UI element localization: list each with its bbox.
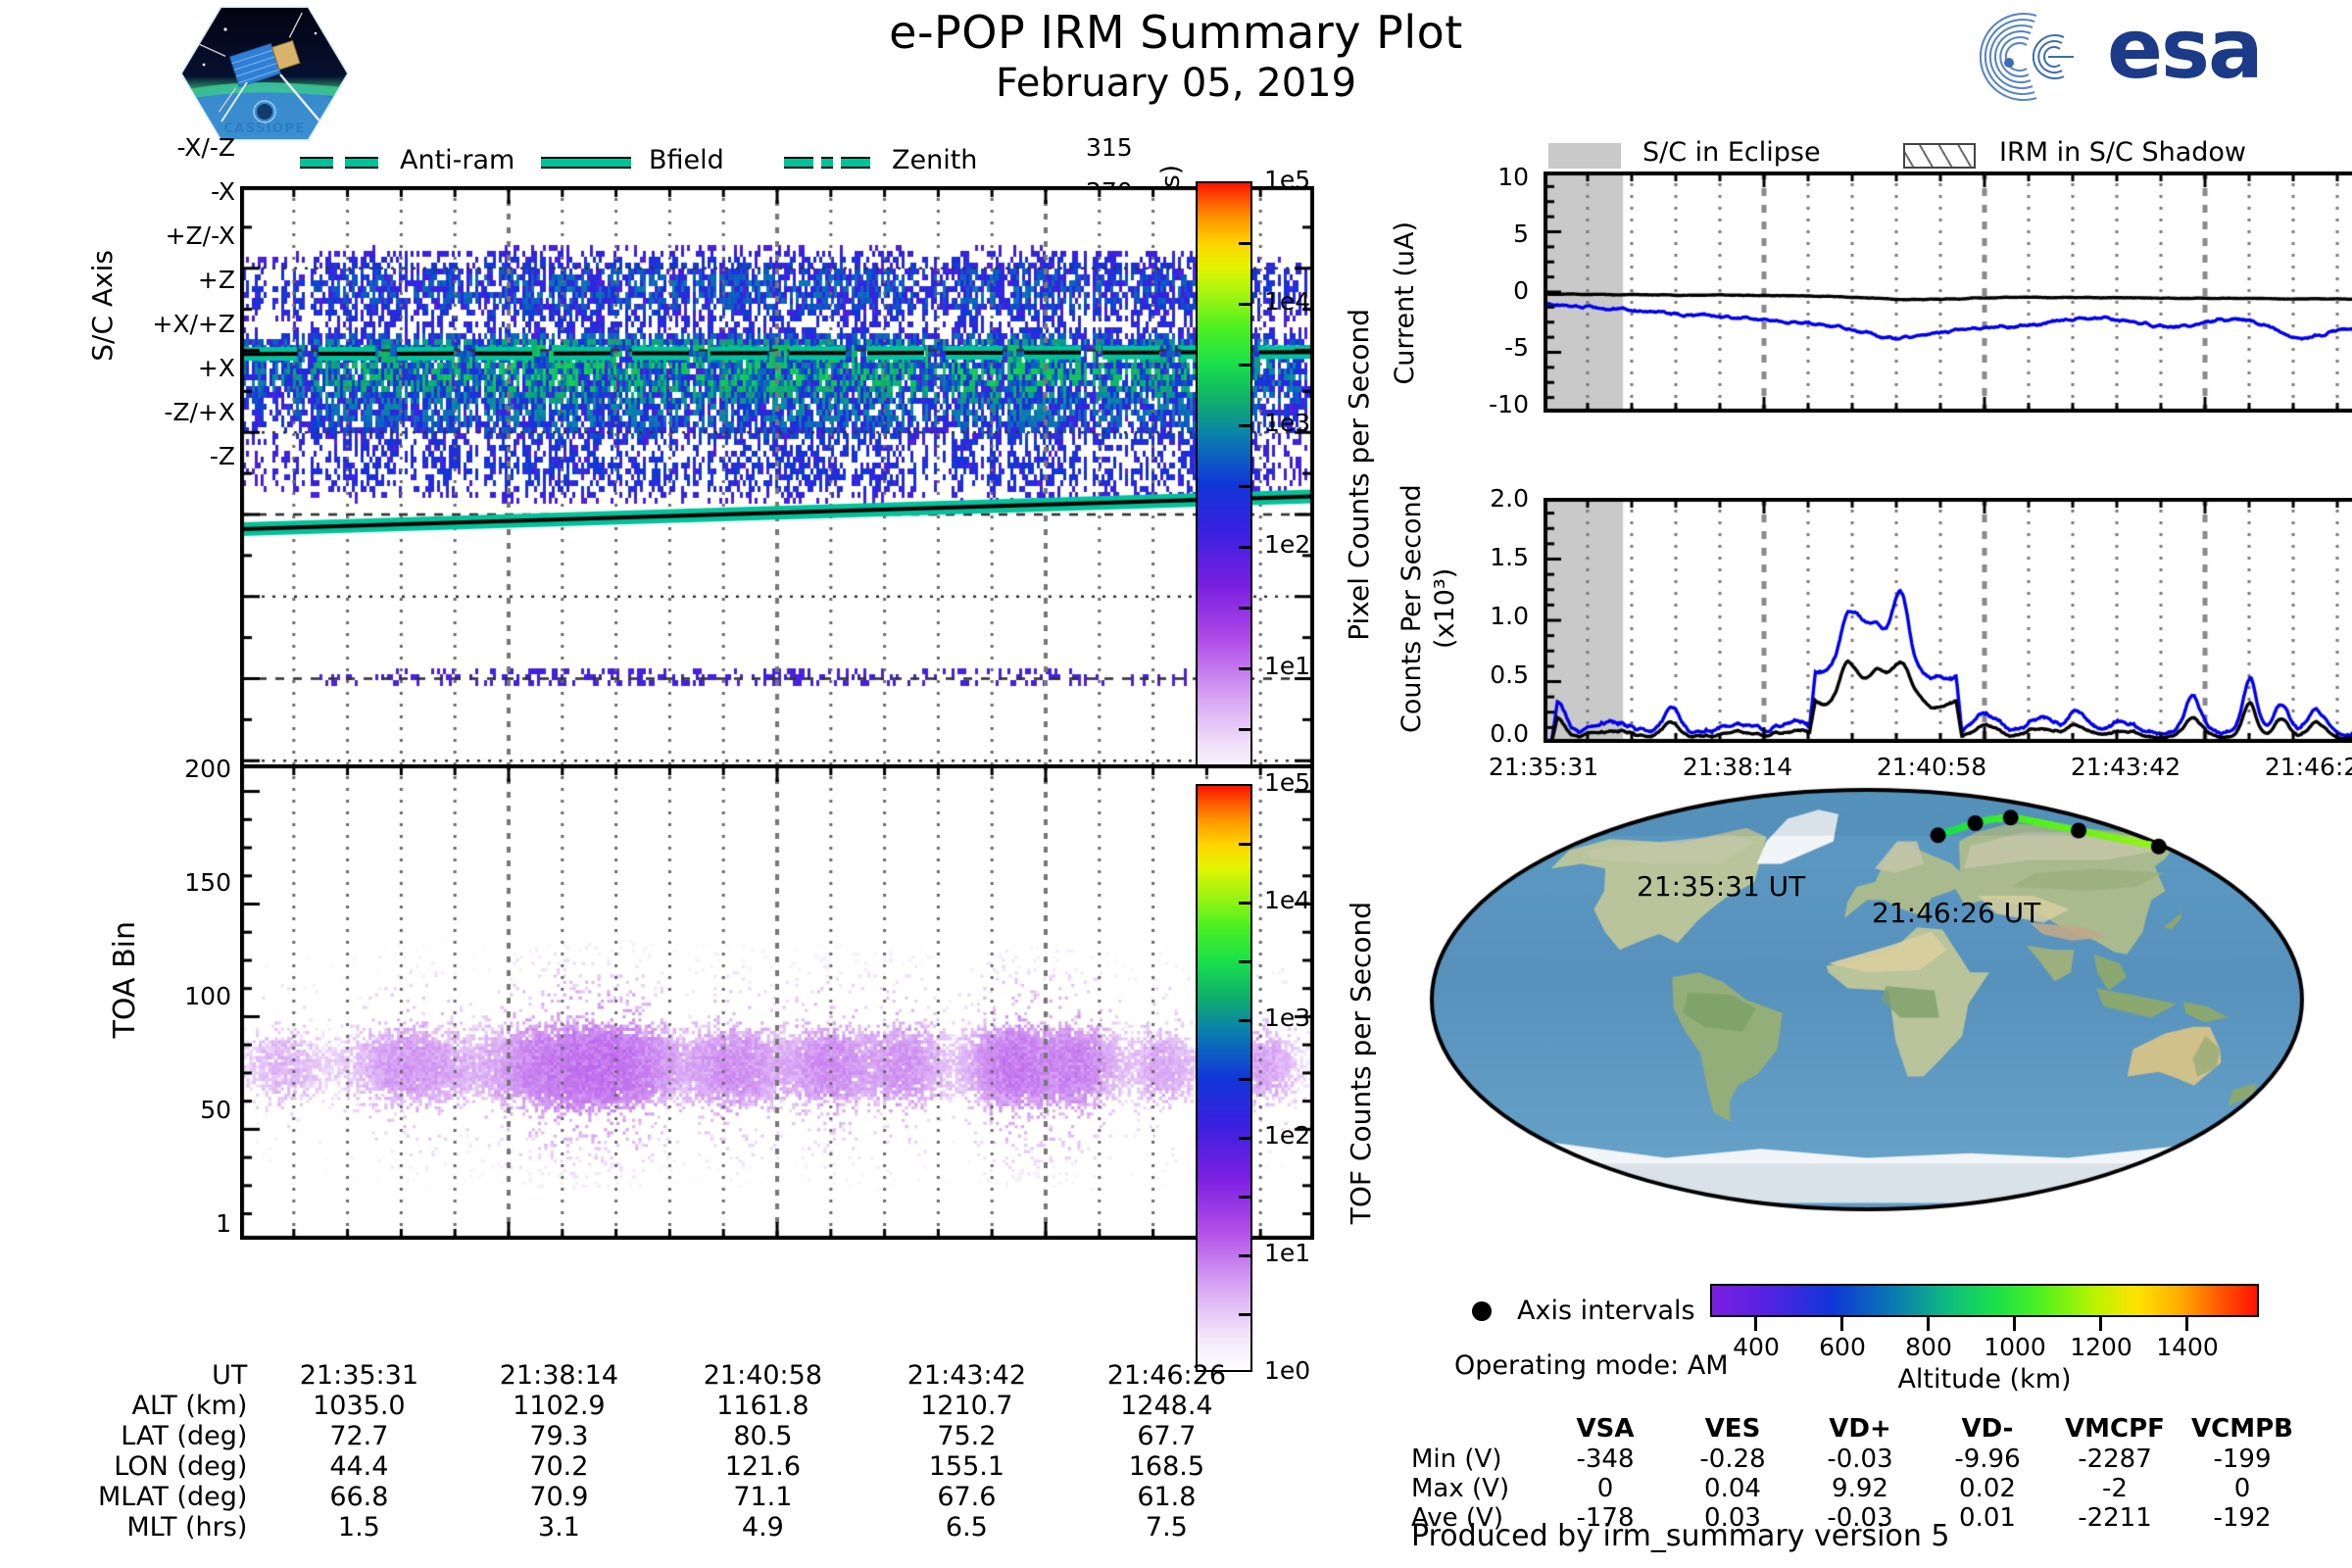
cb-tof-tickmark-m4 (1239, 1196, 1252, 1199)
cb-alt-tickmark-5 (2185, 1317, 2188, 1331)
voltage-table: VSA VES VD+ VD- VMCPF VCMPB Min (V) -348… (1411, 1413, 2306, 1533)
cb-pixel-tickmark-4 (1239, 667, 1252, 670)
min-vdplus: -0.03 (1796, 1445, 1924, 1474)
panel-sc-axis: S/C Axis -X/-Z -X +Z/-X +Z +X/+Z +X -Z/+… (0, 0, 1372, 764)
cb-tof-tick-1: 1e4 (1264, 886, 1310, 914)
min-vcmpb: -199 (2179, 1445, 2306, 1474)
map-legend: Axis intervals Operating mode: AM 400 60… (1421, 1254, 2342, 1382)
cb-pixel-tick-0: 1e5 (1264, 166, 1310, 194)
cb-tof-tick-2: 1e3 (1264, 1004, 1310, 1032)
cb-alt-tickmark-2 (1927, 1317, 1930, 1331)
colorbar-tof-counts: 1e5 1e4 1e3 1e2 1e1 1e0 TOF Counts per S… (1196, 784, 1252, 1372)
cur-ytick-2: 0 (1421, 276, 1529, 305)
cb-pixel-tickmark-m4 (1239, 607, 1252, 610)
cb-alt-tick-5: 1400 (2136, 1333, 2238, 1361)
toa-ytick-1: 150 (147, 868, 231, 897)
cb-pixel-tickmark-m1 (1239, 242, 1252, 245)
row-label-lon: LON (deg) (98, 1451, 261, 1482)
mlt-v2: 4.9 (661, 1512, 864, 1543)
col-header-vdplus: VD+ (1796, 1413, 1924, 1445)
cb-alt-tickmark-1 (1840, 1317, 1843, 1331)
cur-ytick-1: 5 (1421, 220, 1529, 248)
map-start-label: 21:35:31 UT (1637, 870, 1805, 903)
cb-pixel-tick-3: 1e2 (1264, 530, 1310, 559)
min-vsa: -348 (1542, 1445, 1669, 1474)
legend-swatch-eclipse (1548, 143, 1621, 169)
cb-tof-tick-3: 1e2 (1264, 1121, 1310, 1150)
map-operating-mode: Operating mode: AM (1454, 1350, 1729, 1381)
cnt-ytick-4: 0.0 (1411, 719, 1529, 748)
cb-pixel-tick-2: 1e3 (1264, 409, 1310, 437)
cb-pixel-tickmark-3 (1239, 546, 1252, 549)
table-row: Max (V) 0 0.04 9.92 0.02 -2 0 (1411, 1474, 2306, 1503)
lat-v0: 72.7 (261, 1421, 457, 1451)
voltage-table-head: VSA VES VD+ VD- VMCPF VCMPB (1411, 1413, 2306, 1445)
min-vmcpf: -2287 (2051, 1445, 2179, 1474)
toa-bin-scatter[interactable] (240, 764, 1314, 1240)
cur-ytick-0: 10 (1421, 163, 1529, 191)
cnt-ytick-2: 1.0 (1411, 602, 1529, 630)
cnt-ytick-3: 0.5 (1411, 661, 1529, 689)
row-label-mlt: MLT (hrs) (98, 1512, 261, 1543)
mlt-v3: 6.5 (864, 1512, 1068, 1543)
ytick-label-left-5: +X (98, 354, 235, 382)
ephemeris-table-body: UT 21:35:31 21:38:14 21:40:58 21:43:42 2… (98, 1360, 1264, 1543)
cb-tof-tickmark-4 (1239, 1254, 1252, 1257)
col-header-ves: VES (1669, 1413, 1796, 1445)
axis-interval-marker-icon (1472, 1301, 1492, 1321)
lat-v3: 75.2 (864, 1421, 1068, 1451)
ytick-label-left-0: -X/-Z (98, 133, 235, 162)
toa-ytick-2: 100 (147, 982, 231, 1010)
lon-v0: 44.4 (261, 1451, 457, 1482)
toa-ytick-0: 200 (147, 755, 231, 783)
map-panel[interactable]: 21:35:31 UT 21:46:26 UT (1426, 784, 2308, 1215)
cb-pixel-tickmark-m5 (1239, 728, 1252, 731)
min-vdminus: -9.96 (1924, 1445, 2051, 1474)
max-vsa: 0 (1542, 1474, 1669, 1503)
mlat-v3: 67.6 (864, 1482, 1068, 1512)
cur-ytick-4: -10 (1421, 390, 1529, 418)
panel-toa-ylabel: TOA Bin (108, 921, 142, 1038)
cb-alt-tickmark-0 (1754, 1317, 1757, 1331)
mlat-v4: 61.8 (1068, 1482, 1264, 1512)
cur-ytick-3: -5 (1421, 333, 1529, 362)
footer-produced-by: Produced by irm_summary version 5 (1411, 1519, 1949, 1553)
cb-tof-tickmark-1 (1239, 902, 1252, 905)
panel-current: Current (uA) 10 5 0 -5 -10 Sensor Surfac… (1372, 176, 2352, 470)
row-label-mlat: MLAT (deg) (98, 1482, 261, 1512)
lon-v4: 168.5 (1068, 1451, 1264, 1482)
ut-v1: 21:38:14 (457, 1360, 661, 1391)
ephemeris-table: UT 21:35:31 21:38:14 21:40:58 21:43:42 2… (98, 1360, 1264, 1543)
ut-v4: 21:46:26 (1068, 1360, 1264, 1391)
max-vmcpf: -2 (2051, 1474, 2179, 1503)
ytick-label-left-3: +Z (98, 266, 235, 294)
ut-v0: 21:35:31 (261, 1360, 457, 1391)
mlt-v1: 3.1 (457, 1512, 661, 1543)
legend-eclipse-shadow: S/C in Eclipse IRM in S/C Shadow (1548, 139, 2293, 172)
sc-axis-spectrogram[interactable] (240, 186, 1314, 843)
max-vdplus: 9.92 (1796, 1474, 1924, 1503)
cnt-xtick-1: 21:38:14 (1659, 753, 1816, 781)
ave-vmcpf: -2211 (2051, 1503, 2179, 1533)
legend-label-eclipse: S/C in Eclipse (1642, 137, 1821, 168)
mlat-v2: 71.1 (661, 1482, 864, 1512)
ytick-label-left-7: -Z (98, 442, 235, 470)
cb-pixel-tickmark-1 (1239, 303, 1252, 306)
ut-v3: 21:43:42 (864, 1360, 1068, 1391)
cb-tof-tick-0: 1e5 (1264, 768, 1310, 797)
ytick-label-left-6: -Z/+X (98, 398, 235, 426)
colorbar-pixel-counts-label: Pixel Counts per Second (1343, 309, 1375, 641)
mlat-v1: 70.9 (457, 1482, 661, 1512)
ytick-label-right-0: 315 (1086, 133, 1133, 162)
cb-tof-tickmark-m5 (1239, 1313, 1252, 1316)
colorbar-altitude-label: Altitude (km) (1710, 1364, 2259, 1395)
alt-v0: 1035.0 (261, 1391, 457, 1421)
ytick-label-left-1: -X (98, 177, 235, 206)
ave-vcmpb: -192 (2179, 1503, 2306, 1533)
cnt-xtick-0: 21:35:31 (1465, 753, 1622, 781)
max-vcmpb: 0 (2179, 1474, 2306, 1503)
cb-tof-tickmark-m1 (1239, 843, 1252, 846)
panel-current-ylabel: Current (uA) (1390, 221, 1420, 385)
panel-toa-bin: TOA Bin 200 150 100 50 1 (0, 764, 1372, 1372)
lon-v2: 121.6 (661, 1451, 864, 1482)
row-label-lat: LAT (deg) (98, 1421, 261, 1451)
alt-v3: 1210.7 (864, 1391, 1068, 1421)
lat-v1: 79.3 (457, 1421, 661, 1451)
lat-v2: 80.5 (661, 1421, 864, 1451)
cb-pixel-tickmark-m3 (1239, 485, 1252, 488)
alt-v2: 1161.8 (661, 1391, 864, 1421)
lon-v1: 70.2 (457, 1451, 661, 1482)
table-row: Min (V) -348 -0.28 -0.03 -9.96 -2287 -19… (1411, 1445, 2306, 1474)
table-row: VSA VES VD+ VD- VMCPF VCMPB (1411, 1413, 2306, 1445)
cnt-ytick-0: 2.0 (1411, 484, 1529, 513)
col-header-vsa: VSA (1542, 1413, 1669, 1445)
current-line-chart[interactable] (1543, 171, 2352, 413)
alt-v1: 1102.9 (457, 1391, 661, 1421)
lon-v3: 155.1 (864, 1451, 1068, 1482)
table-row: LON (deg) 44.4 70.2 121.6 155.1 168.5 (98, 1451, 1264, 1482)
table-row: UT 21:35:31 21:38:14 21:40:58 21:43:42 2… (98, 1360, 1264, 1391)
cb-pixel-tick-1: 1e4 (1264, 287, 1310, 316)
ytick-label-left-4: +X/+Z (98, 310, 235, 338)
esa-logo: esa (1980, 6, 2313, 104)
row-label-ut: UT (98, 1360, 261, 1391)
col-header-vcmpb: VCMPB (2179, 1413, 2306, 1445)
world-map-orbit-track[interactable] (1426, 784, 2308, 1215)
counts-line-chart[interactable] (1543, 498, 2352, 743)
cb-pixel-tick-4: 1e1 (1264, 652, 1310, 680)
row-label-min: Min (V) (1411, 1445, 1542, 1474)
row-label-alt: ALT (km) (98, 1391, 261, 1421)
legend-swatch-shadow (1903, 143, 1976, 169)
min-ves: -0.28 (1669, 1445, 1796, 1474)
table-row: LAT (deg) 72.7 79.3 80.5 75.2 67.7 (98, 1421, 1264, 1451)
colorbar-altitude-gradient (1710, 1284, 2259, 1317)
map-end-label: 21:46:26 UT (1872, 897, 2040, 929)
table-row: MLT (hrs) 1.5 3.1 4.9 6.5 7.5 (98, 1512, 1264, 1543)
voltage-corner-cell (1411, 1413, 1542, 1445)
cnt-xtick-2: 21:40:58 (1853, 753, 2010, 781)
cnt-xtick-4: 21:46:26 (2241, 753, 2352, 781)
lat-v4: 67.7 (1068, 1421, 1264, 1451)
cb-tof-tickmark-2 (1239, 1019, 1252, 1022)
cnt-ytick-1: 1.5 (1411, 543, 1529, 571)
mlt-v4: 7.5 (1068, 1512, 1264, 1543)
toa-ytick-4: 1 (147, 1209, 231, 1238)
mlt-v0: 1.5 (261, 1512, 457, 1543)
cb-pixel-tickmark-m2 (1239, 364, 1252, 367)
cb-alt-tickmark-4 (2099, 1317, 2102, 1331)
cnt-xtick-3: 21:43:42 (2047, 753, 2204, 781)
col-header-vmcpf: VMCPF (2051, 1413, 2179, 1445)
table-row: MLAT (deg) 66.8 70.9 71.1 67.6 61.8 (98, 1482, 1264, 1512)
max-ves: 0.04 (1669, 1474, 1796, 1503)
legend-label-shadow: IRM in S/C Shadow (1999, 137, 2246, 168)
panel-counts: Counts Per Second (x10³) 2.0 1.5 1.0 0.5… (1372, 441, 2352, 755)
max-vdminus: 0.02 (1924, 1474, 2051, 1503)
cb-tof-tickmark-m2 (1239, 960, 1252, 963)
colorbar-pixel-counts-gradient (1196, 181, 1252, 787)
colorbar-pixel-counts: 1e5 1e4 1e3 1e2 1e1 1e0 Pixel Counts per… (1196, 181, 1252, 787)
toa-ytick-3: 50 (147, 1096, 231, 1124)
alt-v4: 1248.4 (1068, 1391, 1264, 1421)
row-label-max: Max (V) (1411, 1474, 1542, 1503)
table-row: ALT (km) 1035.0 1102.9 1161.8 1210.7 124… (98, 1391, 1264, 1421)
col-header-vdminus: VD- (1924, 1413, 2051, 1445)
colorbar-tof-counts-label: TOF Counts per Second (1345, 902, 1377, 1224)
esa-logo-wordmark: esa (2107, 8, 2262, 90)
ytick-label-left-2: +Z/-X (98, 221, 235, 250)
cb-tof-tickmark-m3 (1239, 1078, 1252, 1081)
cb-tof-tick-5: 1e0 (1264, 1356, 1310, 1385)
cb-tof-tick-4: 1e1 (1264, 1239, 1310, 1267)
cb-alt-tickmark-3 (2013, 1317, 2016, 1331)
ut-v2: 21:40:58 (661, 1360, 864, 1391)
mlat-v0: 66.8 (261, 1482, 457, 1512)
cb-pixel-tickmark-2 (1239, 424, 1252, 427)
cb-tof-tickmark-3 (1239, 1137, 1252, 1140)
map-marker-legend-label: Axis intervals (1517, 1296, 1695, 1326)
